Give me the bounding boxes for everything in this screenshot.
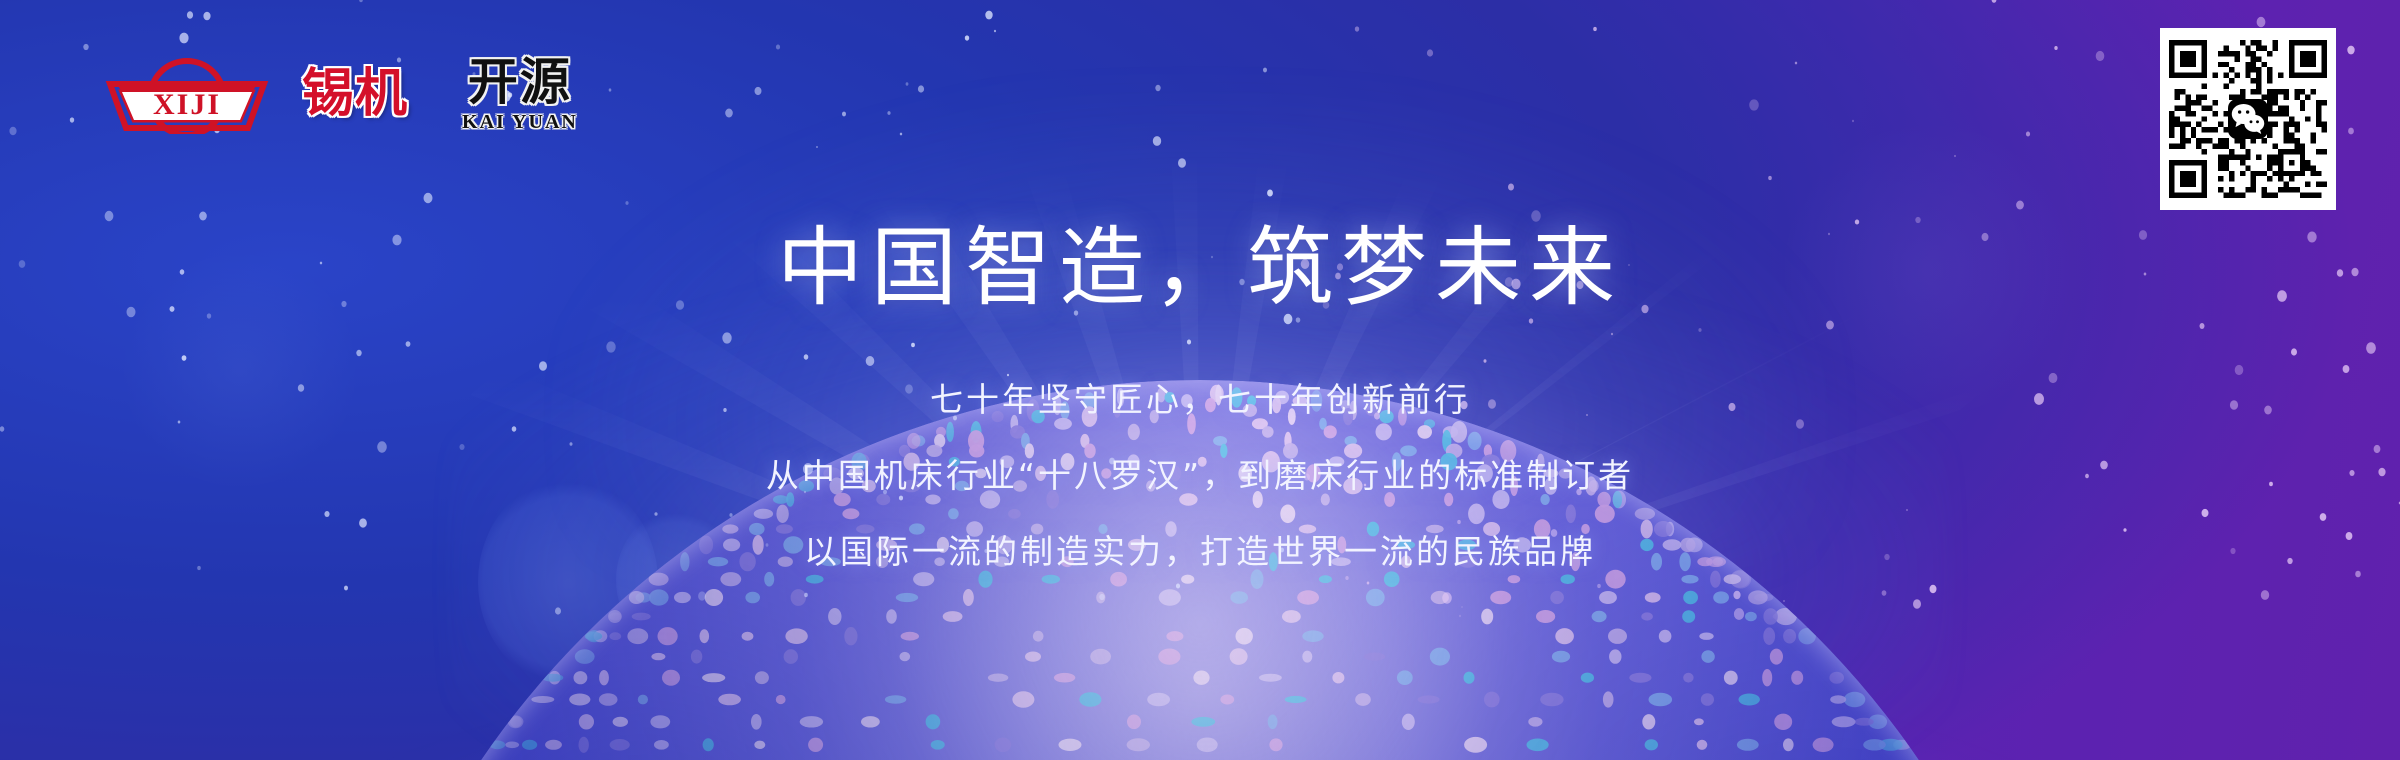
page-title: 中国智造，筑梦未来 xyxy=(0,225,2400,311)
subtitle-line-2: 从中国机床行业“十八罗汉”，到磨床行业的标准制订者 xyxy=(0,449,2400,497)
subtitle-line-3: 以国际一流的制造实力，打造世界一流的民族品牌 xyxy=(0,525,2400,573)
wechat-icon xyxy=(2228,99,2268,139)
sub-brand-cn: 开源 xyxy=(468,57,572,107)
xiji-badge-text: XIJI xyxy=(153,88,221,121)
hero-banner: XIJI 锡机 开源 KAI YUAN xyxy=(0,0,2400,760)
dotted-globe-graphic xyxy=(330,380,2070,760)
sub-brand-lockup: 开源 KAI YUAN xyxy=(462,57,578,132)
bokeh-circle xyxy=(478,478,658,686)
sub-brand-en: KAI YUAN xyxy=(462,112,578,132)
horizon-glow xyxy=(450,265,1950,760)
bokeh-circle xyxy=(120,250,360,490)
bokeh-circle xyxy=(1780,120,2080,420)
subtitle-line-1: 七十年坚守匠心，七十年创新前行 xyxy=(0,373,2400,421)
upper-glow xyxy=(575,100,1825,560)
wechat-qr-code[interactable] xyxy=(2160,28,2336,210)
xiji-badge-icon: XIJI xyxy=(96,54,278,134)
company-logo[interactable]: XIJI 锡机 开源 KAI YUAN xyxy=(96,52,578,136)
brand-name-cn: 锡机 xyxy=(302,68,408,120)
bokeh-circle xyxy=(616,510,736,650)
